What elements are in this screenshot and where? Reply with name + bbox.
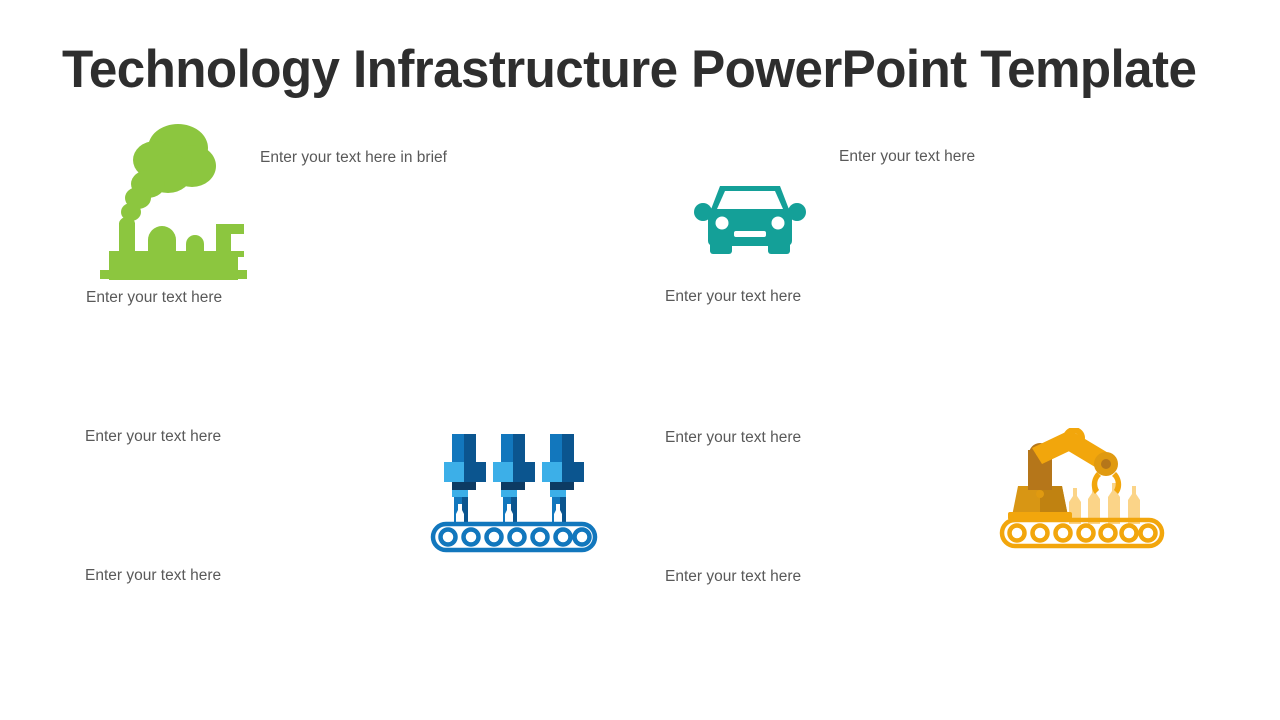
caption-car-above: Enter your text here (839, 147, 975, 167)
caption-train-brief: Enter your text here in brief (260, 148, 447, 168)
robot-arm-conveyor-icon (998, 428, 1166, 552)
car-front-icon (694, 178, 806, 260)
caption-bottling-left-top: Enter your text here (85, 427, 221, 447)
caption-car-below: Enter your text here (665, 287, 801, 307)
caption-bottling-left-bottom: Enter your text here (85, 566, 221, 586)
caption-train-below: Enter your text here (86, 288, 222, 308)
caption-robot-left-top: Enter your text here (665, 428, 801, 448)
steam-train-icon (100, 118, 250, 280)
caption-robot-left-bottom: Enter your text here (665, 567, 801, 587)
slide-canvas: Technology Infrastructure PowerPoint Tem… (0, 0, 1280, 720)
page-title: Technology Infrastructure PowerPoint Tem… (62, 38, 1201, 102)
bottling-conveyor-icon (428, 432, 600, 554)
